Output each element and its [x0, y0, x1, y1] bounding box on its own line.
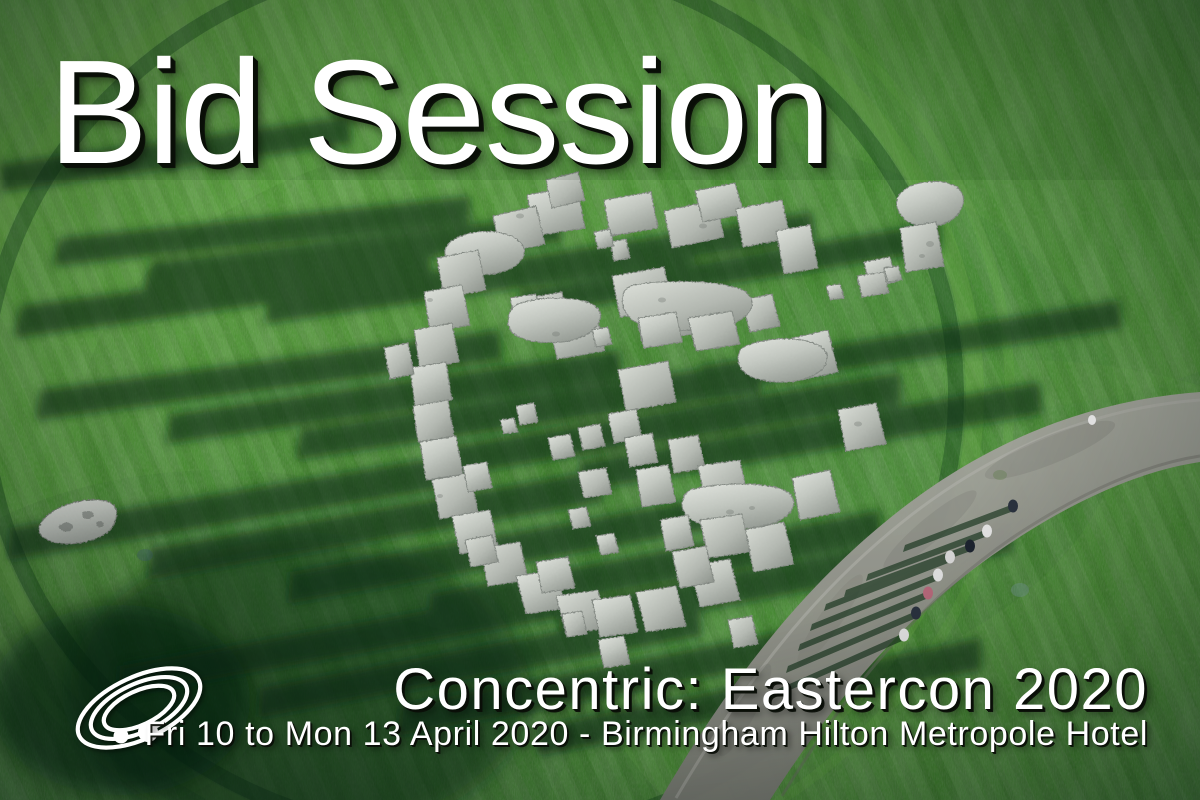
orbit-rings-icon — [68, 652, 210, 764]
text-overlay: Bid Session Concentric: Eastercon 2020 F… — [0, 0, 1200, 800]
event-dates-venue: Fri 10 to Mon 13 April 2020 - Birmingham… — [145, 716, 1148, 752]
page-title: Bid Session — [48, 38, 1175, 188]
orbit-ring-middle — [82, 664, 197, 751]
poster-canvas: Bid Session Concentric: Eastercon 2020 F… — [0, 0, 1200, 800]
orbit-ring-inner — [97, 677, 180, 740]
orbit-ring-outer — [68, 652, 210, 764]
orbit-planet-large — [138, 722, 158, 742]
event-name: Concentric: Eastercon 2020 — [393, 660, 1148, 720]
concentric-orbit-logo — [68, 652, 210, 764]
orbit-planet-small — [114, 729, 129, 744]
